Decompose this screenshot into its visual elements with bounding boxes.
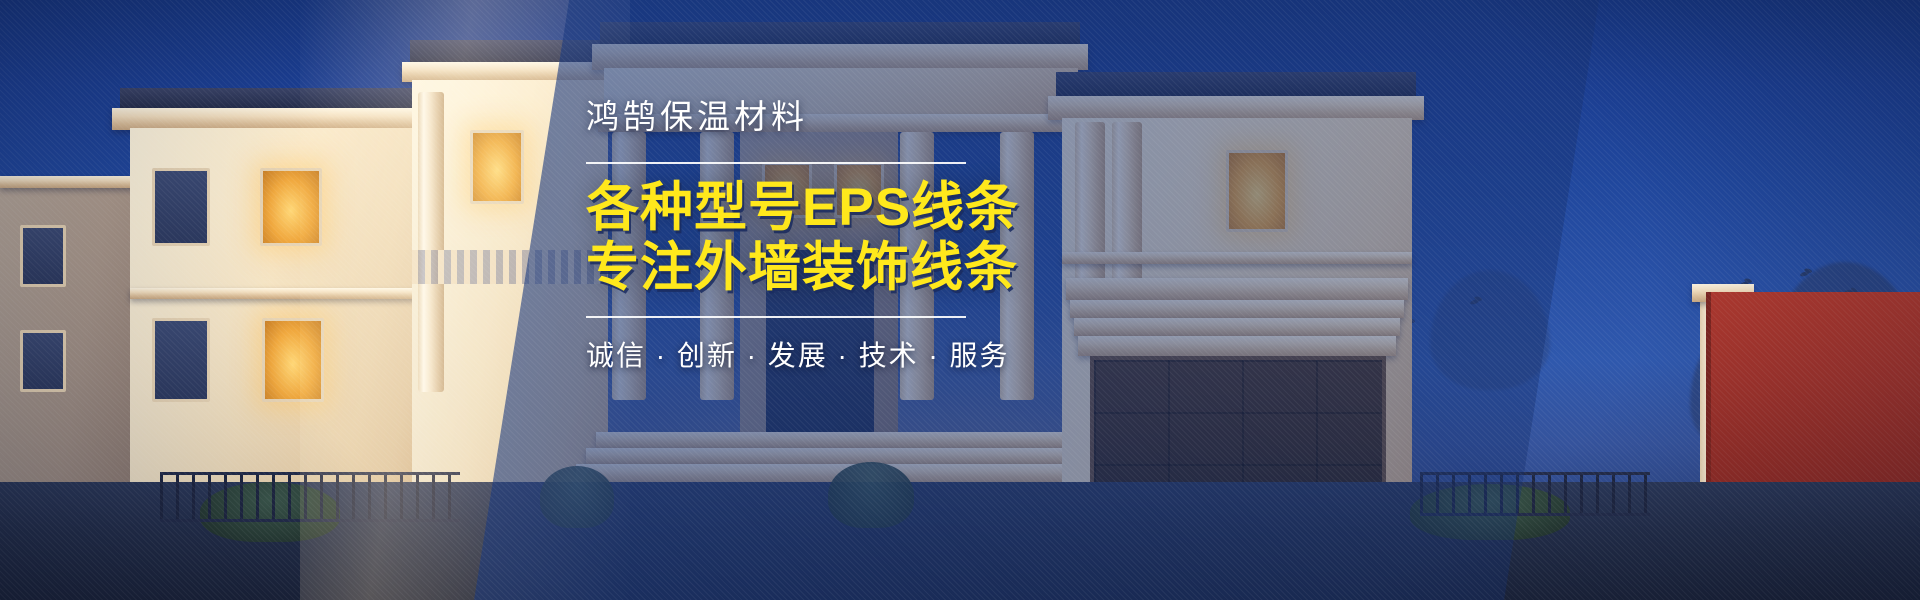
garage-lintel xyxy=(1070,300,1404,318)
red-wall xyxy=(1706,292,1920,504)
banner-copy: 鸿鹄保温材料 各种型号EPS线条 专注外墙装饰线条 诚信 · 创新 · 发展 ·… xyxy=(586,96,1106,374)
window-glowing xyxy=(470,130,524,204)
window-glowing xyxy=(260,168,322,246)
fence-railing xyxy=(1420,472,1650,516)
window-glowing xyxy=(262,318,324,402)
portico-cornice-top xyxy=(592,44,1088,70)
center-cornice xyxy=(402,62,616,82)
left-block-cornice xyxy=(112,108,430,130)
divider-top xyxy=(586,162,966,164)
left-wing-cornice xyxy=(0,176,140,188)
fence-railing xyxy=(160,472,460,522)
window-dark xyxy=(152,318,210,402)
right-block-band xyxy=(1062,252,1412,264)
headline-line-1: 各种型号EPS线条 xyxy=(586,178,1106,238)
shrub xyxy=(540,466,614,528)
headline-line-2: 专注外墙装饰线条 xyxy=(586,238,1106,298)
shrub xyxy=(828,462,914,528)
portico-step xyxy=(596,432,1096,448)
divider-bottom xyxy=(586,316,966,318)
left-block-band xyxy=(130,288,416,299)
center-balustrade xyxy=(412,250,608,284)
brand-name: 鸿鹄保温材料 xyxy=(586,96,1106,137)
garage-lintel xyxy=(1078,336,1396,356)
left-wing-window xyxy=(20,225,66,287)
right-block-roof xyxy=(1056,72,1416,98)
hero-banner: 鸿鹄保温材料 各种型号EPS线条 专注外墙装饰线条 诚信 · 创新 · 发展 ·… xyxy=(0,0,1920,600)
garage-lintel xyxy=(1066,278,1408,300)
right-block-column xyxy=(1112,122,1142,292)
garage-lintel xyxy=(1074,318,1400,336)
tagline: 诚信 · 创新 · 发展 · 技术 · 服务 xyxy=(586,334,1106,374)
window-dark xyxy=(152,168,210,246)
window-glowing xyxy=(1226,150,1288,232)
left-wing-window xyxy=(20,330,66,392)
center-column xyxy=(418,92,444,392)
portico-step xyxy=(586,448,1106,464)
garage-door xyxy=(1090,356,1386,502)
